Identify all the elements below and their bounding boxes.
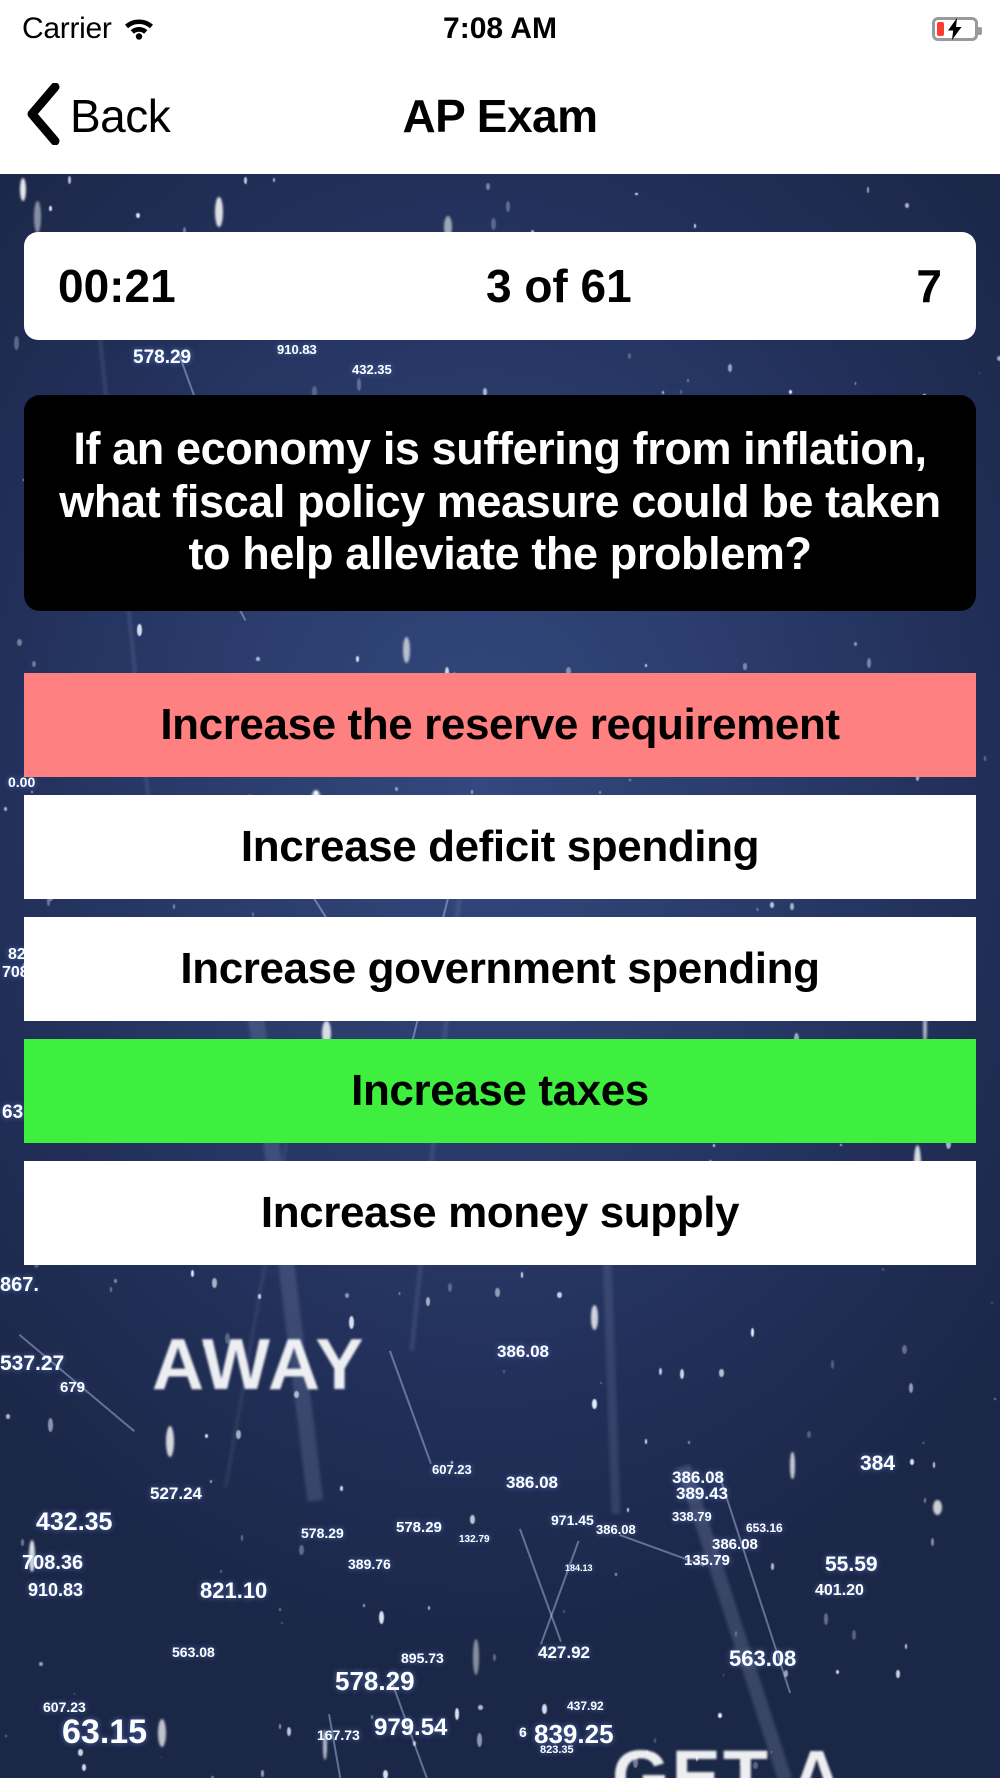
background-number: 563.08 <box>172 1644 215 1660</box>
chevron-left-icon <box>24 83 60 150</box>
background-number: 910.83 <box>28 1580 83 1601</box>
background-number: 389.43 <box>676 1484 728 1504</box>
back-button[interactable]: Back <box>24 83 170 150</box>
battery-charging-icon <box>932 17 978 41</box>
background-number: 386.08 <box>596 1522 636 1537</box>
back-label: Back <box>70 89 170 143</box>
background-number: 389.76 <box>348 1556 391 1572</box>
background-number: 6 <box>519 1724 527 1740</box>
answer-option-1[interactable]: Increase the reserve requirement <box>24 673 976 777</box>
answer-option-label: Increase the reserve requirement <box>160 702 839 748</box>
background-number: 132.79 <box>459 1534 490 1545</box>
background-number: 537.27 <box>0 1352 64 1376</box>
background-number: 895.73 <box>401 1650 444 1666</box>
background-number: 867. <box>0 1274 39 1297</box>
answer-option-label: Increase government spending <box>180 946 819 992</box>
navigation-bar: Back AP Exam <box>0 58 1000 174</box>
background-number: 135.79 <box>684 1552 730 1569</box>
background-word: A <box>790 1734 845 1778</box>
background-number: 607.23 <box>432 1462 472 1477</box>
quiz-hud-bar: 00:21 3 of 61 7 <box>24 232 976 340</box>
background-number: 971.45 <box>551 1512 594 1528</box>
answer-option-label: Increase deficit spending <box>241 824 759 870</box>
answer-option-4[interactable]: Increase taxes <box>24 1039 976 1143</box>
background-number: 527.24 <box>150 1484 202 1504</box>
background-number: 384 <box>860 1452 895 1476</box>
background-number: 386.08 <box>506 1473 558 1493</box>
background-word: AWAY <box>152 1324 365 1406</box>
ios-status-bar: Carrier 7:08 AM <box>0 0 1000 58</box>
background-number: 167.73 <box>317 1727 360 1743</box>
answer-options-list: Increase the reserve requirementIncrease… <box>24 673 976 1265</box>
quiz-screen: GETAAWAY578.29910.83432.35607.2363.15135… <box>0 174 1000 1778</box>
answer-option-3[interactable]: Increase government spending <box>24 917 976 1021</box>
status-bar-right <box>932 17 978 41</box>
background-number: 653.16 <box>746 1521 783 1535</box>
answer-option-label: Increase taxes <box>351 1068 649 1114</box>
background-number: 401.20 <box>815 1582 864 1600</box>
background-number: 563.08 <box>729 1646 796 1672</box>
quiz-content: 00:21 3 of 61 7 If an economy is sufferi… <box>0 232 1000 1265</box>
question-progress: 3 of 61 <box>176 259 942 313</box>
background-word: GET <box>612 1734 770 1778</box>
background-number: 979.54 <box>374 1714 447 1742</box>
background-number: 55.59 <box>825 1553 878 1577</box>
background-number: 432.35 <box>36 1508 112 1537</box>
background-number: 578.29 <box>396 1519 442 1536</box>
background-number: 63.15 <box>62 1713 147 1752</box>
answer-option-label: Increase money supply <box>261 1190 739 1236</box>
score-value: 7 <box>916 259 942 313</box>
answer-option-2[interactable]: Increase deficit spending <box>24 795 976 899</box>
question-card: If an economy is suffering from inflatio… <box>24 395 976 611</box>
question-text: If an economy is suffering from inflatio… <box>50 423 950 581</box>
answer-option-5[interactable]: Increase money supply <box>24 1161 976 1265</box>
timer-value: 00:21 <box>58 259 176 313</box>
background-number: 427.92 <box>538 1643 590 1663</box>
background-number: 338.79 <box>672 1509 712 1524</box>
background-number: 578.29 <box>301 1525 344 1541</box>
background-number: 386.08 <box>712 1536 758 1553</box>
background-number: 679 <box>60 1379 85 1396</box>
background-number: 821.10 <box>200 1578 267 1604</box>
background-number: 823.35 <box>540 1744 574 1756</box>
background-number: 386.08 <box>497 1342 549 1362</box>
carrier-label: Carrier <box>22 12 112 46</box>
background-number: 708.36 <box>22 1552 83 1575</box>
background-number: 184.13 <box>565 1563 593 1573</box>
background-number: 578.29 <box>335 1666 415 1697</box>
background-number: 437.92 <box>567 1699 604 1713</box>
status-bar-left: Carrier <box>22 12 156 46</box>
wifi-icon <box>122 14 156 45</box>
